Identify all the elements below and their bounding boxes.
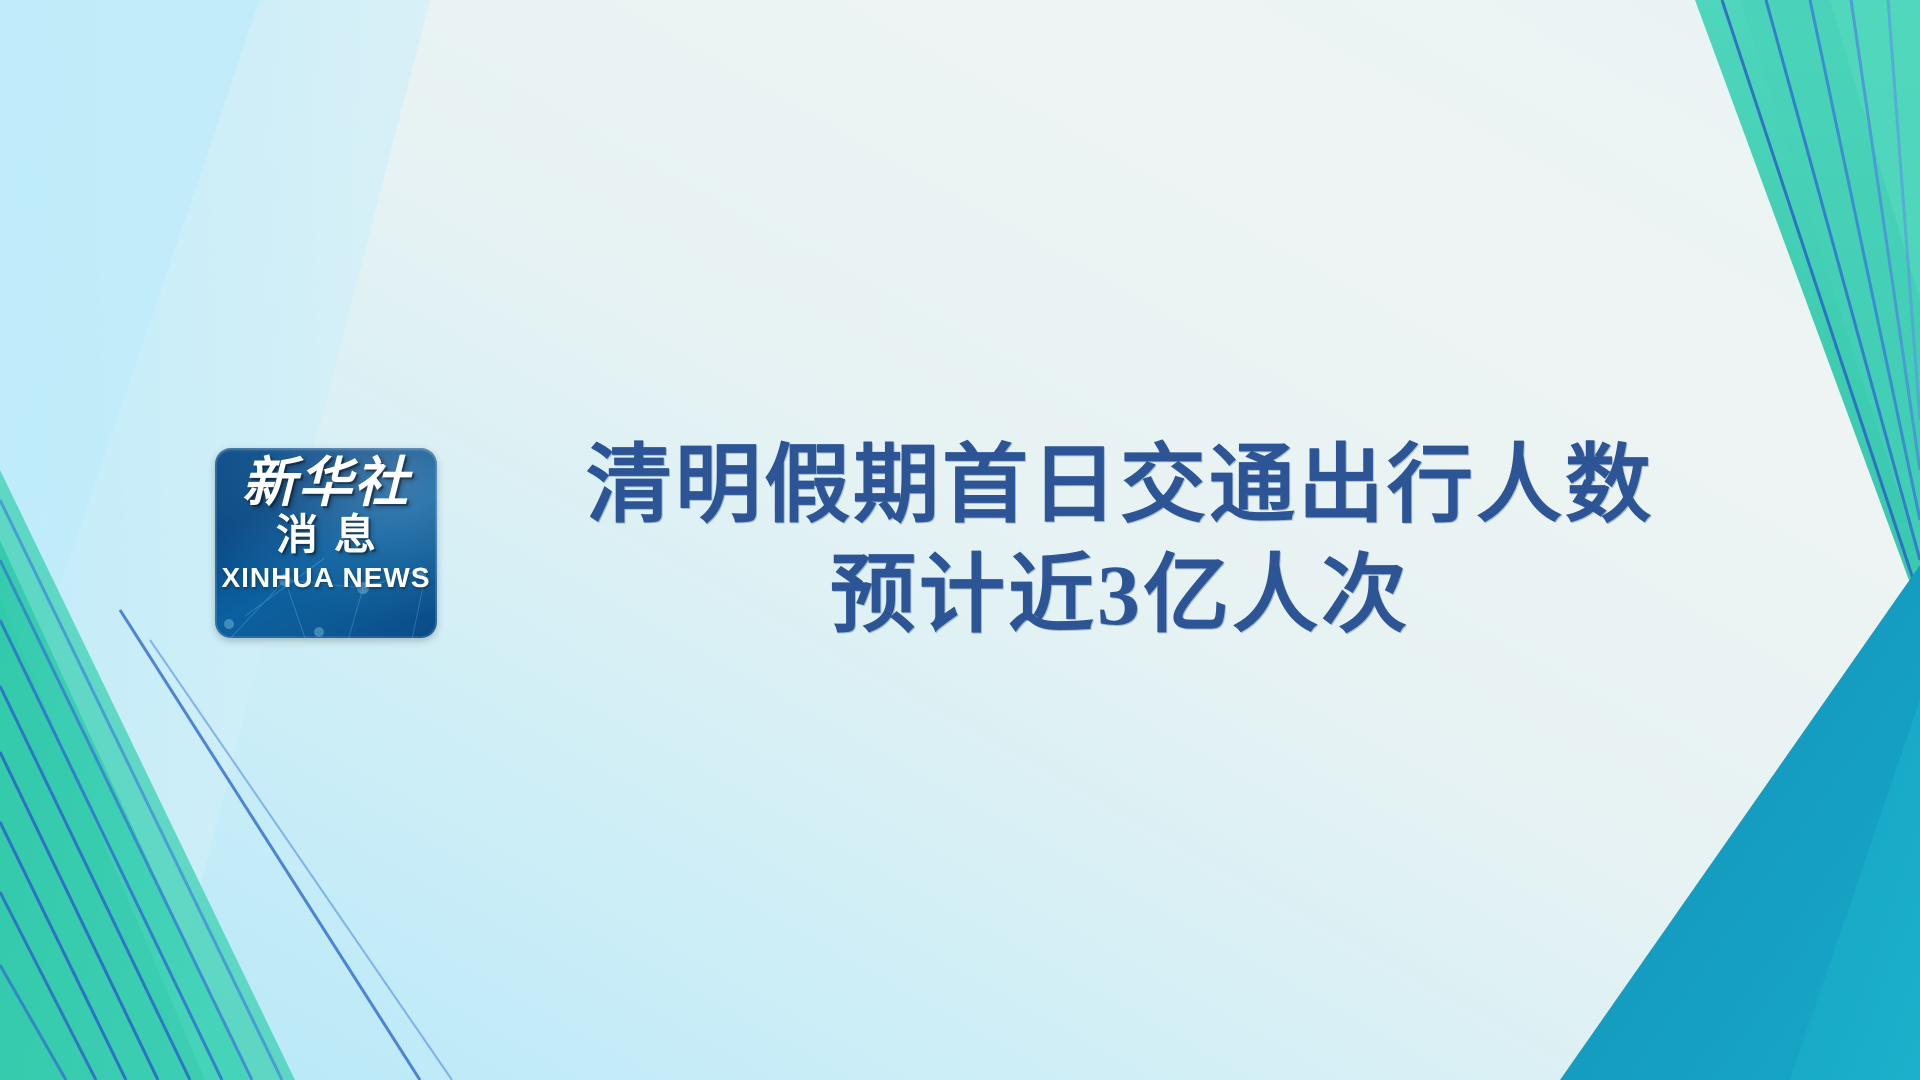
logo-cn-primary: 新华社 — [242, 456, 410, 510]
headline-line-2: 预计近3亿人次 — [520, 540, 1720, 650]
logo-en-label: XINHUA NEWS — [221, 564, 430, 592]
headline-line-1: 清明假期首日交通出行人数 — [520, 430, 1720, 540]
logo-cn-secondary: 消息 — [260, 514, 392, 558]
xinhua-news-logo: 新华社 消息 XINHUA NEWS — [215, 448, 437, 638]
news-card: 新华社 消息 XINHUA NEWS 清明假期首日交通出行人数 预计近3亿人次 — [0, 0, 1920, 1080]
headline: 清明假期首日交通出行人数 预计近3亿人次 — [520, 430, 1720, 650]
